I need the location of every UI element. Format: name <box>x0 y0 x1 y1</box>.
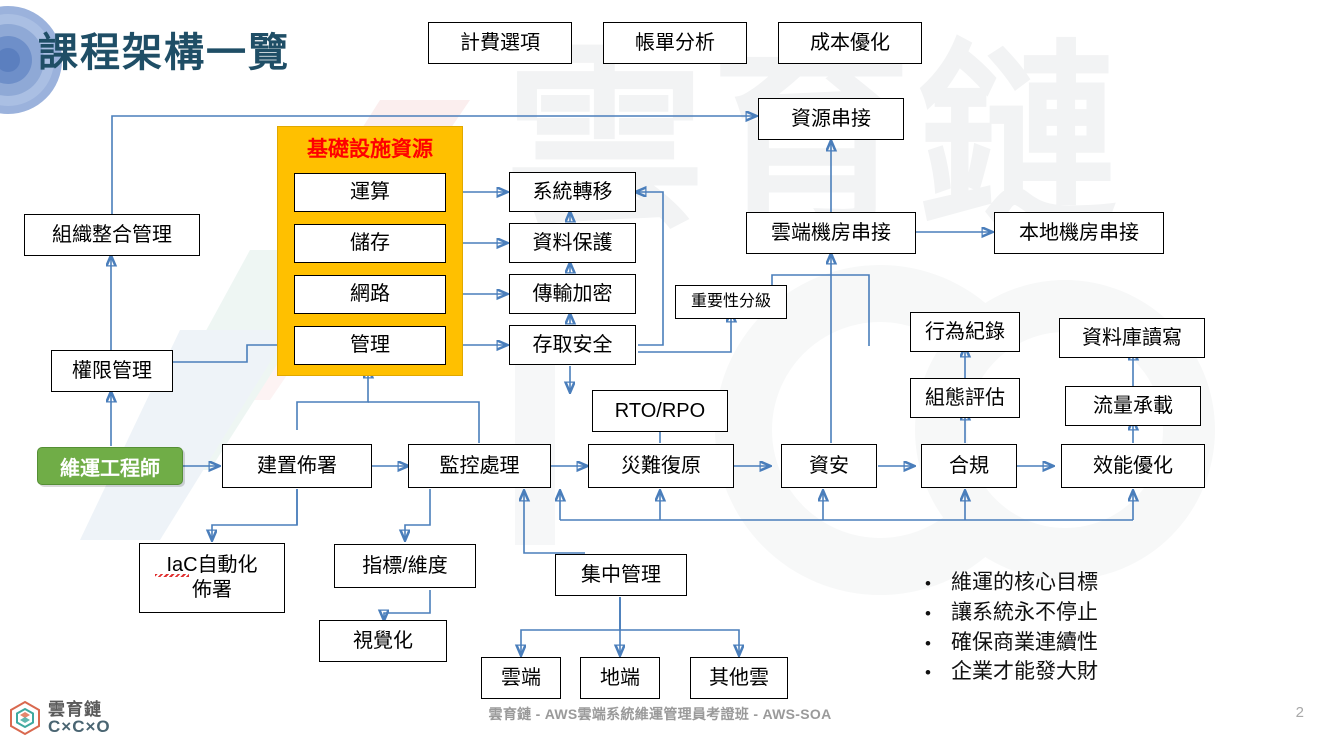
bullet-marker: • <box>925 602 951 626</box>
node-label: 資源串接 <box>791 108 871 131</box>
node-label: 資安 <box>809 455 849 478</box>
group-item-compute[interactable]: 運算 <box>294 173 446 212</box>
list-item: • 企業才能發大財 <box>925 657 1098 687</box>
node-label: RTO/RPO <box>615 400 705 423</box>
bullet-label: 企業才能發大財 <box>951 657 1098 687</box>
node-transfer-encryption[interactable]: 傳輸加密 <box>509 274 636 314</box>
node-resource-link[interactable]: 資源串接 <box>758 98 904 140</box>
node-label: 災難復原 <box>621 455 701 478</box>
node-system-migration[interactable]: 系統轉移 <box>509 172 636 212</box>
node-deployment[interactable]: 建置佈署 <box>222 444 372 488</box>
group-item-label: 運算 <box>350 181 390 204</box>
node-access-security[interactable]: 存取安全 <box>509 325 636 365</box>
node-label: 資料保護 <box>533 232 613 255</box>
node-label: 其他雲 <box>709 667 769 690</box>
bullet-list: • 維運的核心目標 • 讓系統永不停止 • 確保商業連續性 • 企業才能發大財 <box>925 568 1098 687</box>
tag-label: 成本優化 <box>810 32 890 55</box>
connector-layer <box>0 0 1320 740</box>
node-label: 行為紀錄 <box>925 321 1005 344</box>
group-title: 基礎設施資源 <box>278 133 462 163</box>
node-information-security[interactable]: 資安 <box>781 444 877 488</box>
group-item-network[interactable]: 網路 <box>294 275 446 314</box>
node-database-read-write[interactable]: 資料庫讀寫 <box>1059 318 1205 358</box>
actor-label: 維運工程師 <box>60 452 160 481</box>
node-label: 權限管理 <box>72 360 152 383</box>
actor-badge-ops-engineer[interactable]: 維運工程師 <box>37 447 183 485</box>
brand-name-cn: 雲育鏈 <box>48 701 111 718</box>
node-data-protection[interactable]: 資料保護 <box>509 223 636 263</box>
list-item: • 維運的核心目標 <box>925 568 1098 598</box>
node-label: 組織整合管理 <box>52 224 172 247</box>
node-label: 存取安全 <box>533 334 613 357</box>
node-criticality-rating[interactable]: 重要性分級 <box>675 285 787 319</box>
node-label: 視覺化 <box>353 630 413 653</box>
brand-logo: 雲育鏈 C×C×O <box>8 700 111 736</box>
brand-name-en: C×C×O <box>48 718 111 735</box>
node-visualization[interactable]: 視覺化 <box>319 620 447 662</box>
node-compliance[interactable]: 合規 <box>921 444 1017 488</box>
node-iac-automation-deployment[interactable]: IaC自動化 佈署 <box>139 543 285 613</box>
tag-bill-analysis[interactable]: 帳單分析 <box>603 22 747 64</box>
brand-text: 雲育鏈 C×C×O <box>48 701 111 735</box>
hexagon-logo-icon <box>8 700 42 736</box>
node-label: 傳輸加密 <box>533 283 613 306</box>
node-label: 建置佈署 <box>257 455 337 478</box>
node-label: 集中管理 <box>581 564 661 587</box>
node-label: 雲端機房串接 <box>771 222 891 245</box>
node-permission-management[interactable]: 權限管理 <box>51 350 173 392</box>
bullet-marker: • <box>925 661 951 685</box>
list-item: • 確保商業連續性 <box>925 628 1098 658</box>
node-config-assessment[interactable]: 組態評估 <box>910 378 1020 418</box>
node-label: 資料庫讀寫 <box>1082 327 1182 350</box>
spellcheck-underline <box>155 574 189 577</box>
bullet-label: 讓系統永不停止 <box>951 598 1098 628</box>
node-traffic-capacity[interactable]: 流量承載 <box>1065 386 1201 426</box>
node-performance-optimization[interactable]: 效能優化 <box>1061 444 1205 488</box>
tag-cost-optimization[interactable]: 成本優化 <box>778 22 922 64</box>
footer: 雲育鏈 - AWS雲端系統維運管理員考證班 - AWS-SOA 2 雲育鏈 C×… <box>0 692 1320 740</box>
page-number: 2 <box>1296 704 1304 721</box>
tag-billing-options[interactable]: 計費選項 <box>428 22 572 64</box>
node-label: 流量承載 <box>1093 395 1173 418</box>
group-item-storage[interactable]: 儲存 <box>294 224 446 263</box>
node-label: 地端 <box>600 667 640 690</box>
group-item-label: 管理 <box>350 334 390 357</box>
node-label: 本地機房串接 <box>1019 222 1139 245</box>
node-label: 效能優化 <box>1093 455 1173 478</box>
node-behavior-log[interactable]: 行為紀錄 <box>910 312 1020 352</box>
node-label: 雲端 <box>501 667 541 690</box>
node-cloud-datacenter-link[interactable]: 雲端機房串接 <box>746 212 916 254</box>
tag-label: 計費選項 <box>460 32 540 55</box>
node-label: 系統轉移 <box>533 181 613 204</box>
node-org-management[interactable]: 組織整合管理 <box>24 214 200 256</box>
node-metrics-dimensions[interactable]: 指標/維度 <box>334 544 476 588</box>
node-central-management[interactable]: 集中管理 <box>555 554 687 596</box>
list-item: • 讓系統永不停止 <box>925 598 1098 628</box>
tag-label: 帳單分析 <box>635 32 715 55</box>
bullet-marker: • <box>925 632 951 656</box>
group-item-management[interactable]: 管理 <box>294 326 446 365</box>
slide-canvas: 雲育鏈 課程架構一覽 <box>0 0 1320 740</box>
node-local-datacenter-link[interactable]: 本地機房串接 <box>994 212 1164 254</box>
node-rto-rpo[interactable]: RTO/RPO <box>592 390 728 432</box>
node-monitoring[interactable]: 監控處理 <box>408 444 551 488</box>
node-label: 重要性分級 <box>691 293 771 311</box>
bullet-label: 維運的核心目標 <box>951 568 1098 598</box>
node-disaster-recovery[interactable]: 災難復原 <box>588 444 734 488</box>
group-item-label: 網路 <box>350 283 390 306</box>
node-label: 指標/維度 <box>362 555 448 578</box>
node-label: 合規 <box>949 455 989 478</box>
group-item-label: 儲存 <box>350 232 390 255</box>
bullet-marker: • <box>925 572 951 596</box>
bullet-label: 確保商業連續性 <box>951 628 1098 658</box>
node-label: 組態評估 <box>925 387 1005 410</box>
node-label-line2: 佈署 <box>192 579 232 602</box>
node-label: 監控處理 <box>440 455 520 478</box>
footer-course-title: 雲育鏈 - AWS雲端系統維運管理員考證班 - AWS-SOA <box>0 704 1320 724</box>
